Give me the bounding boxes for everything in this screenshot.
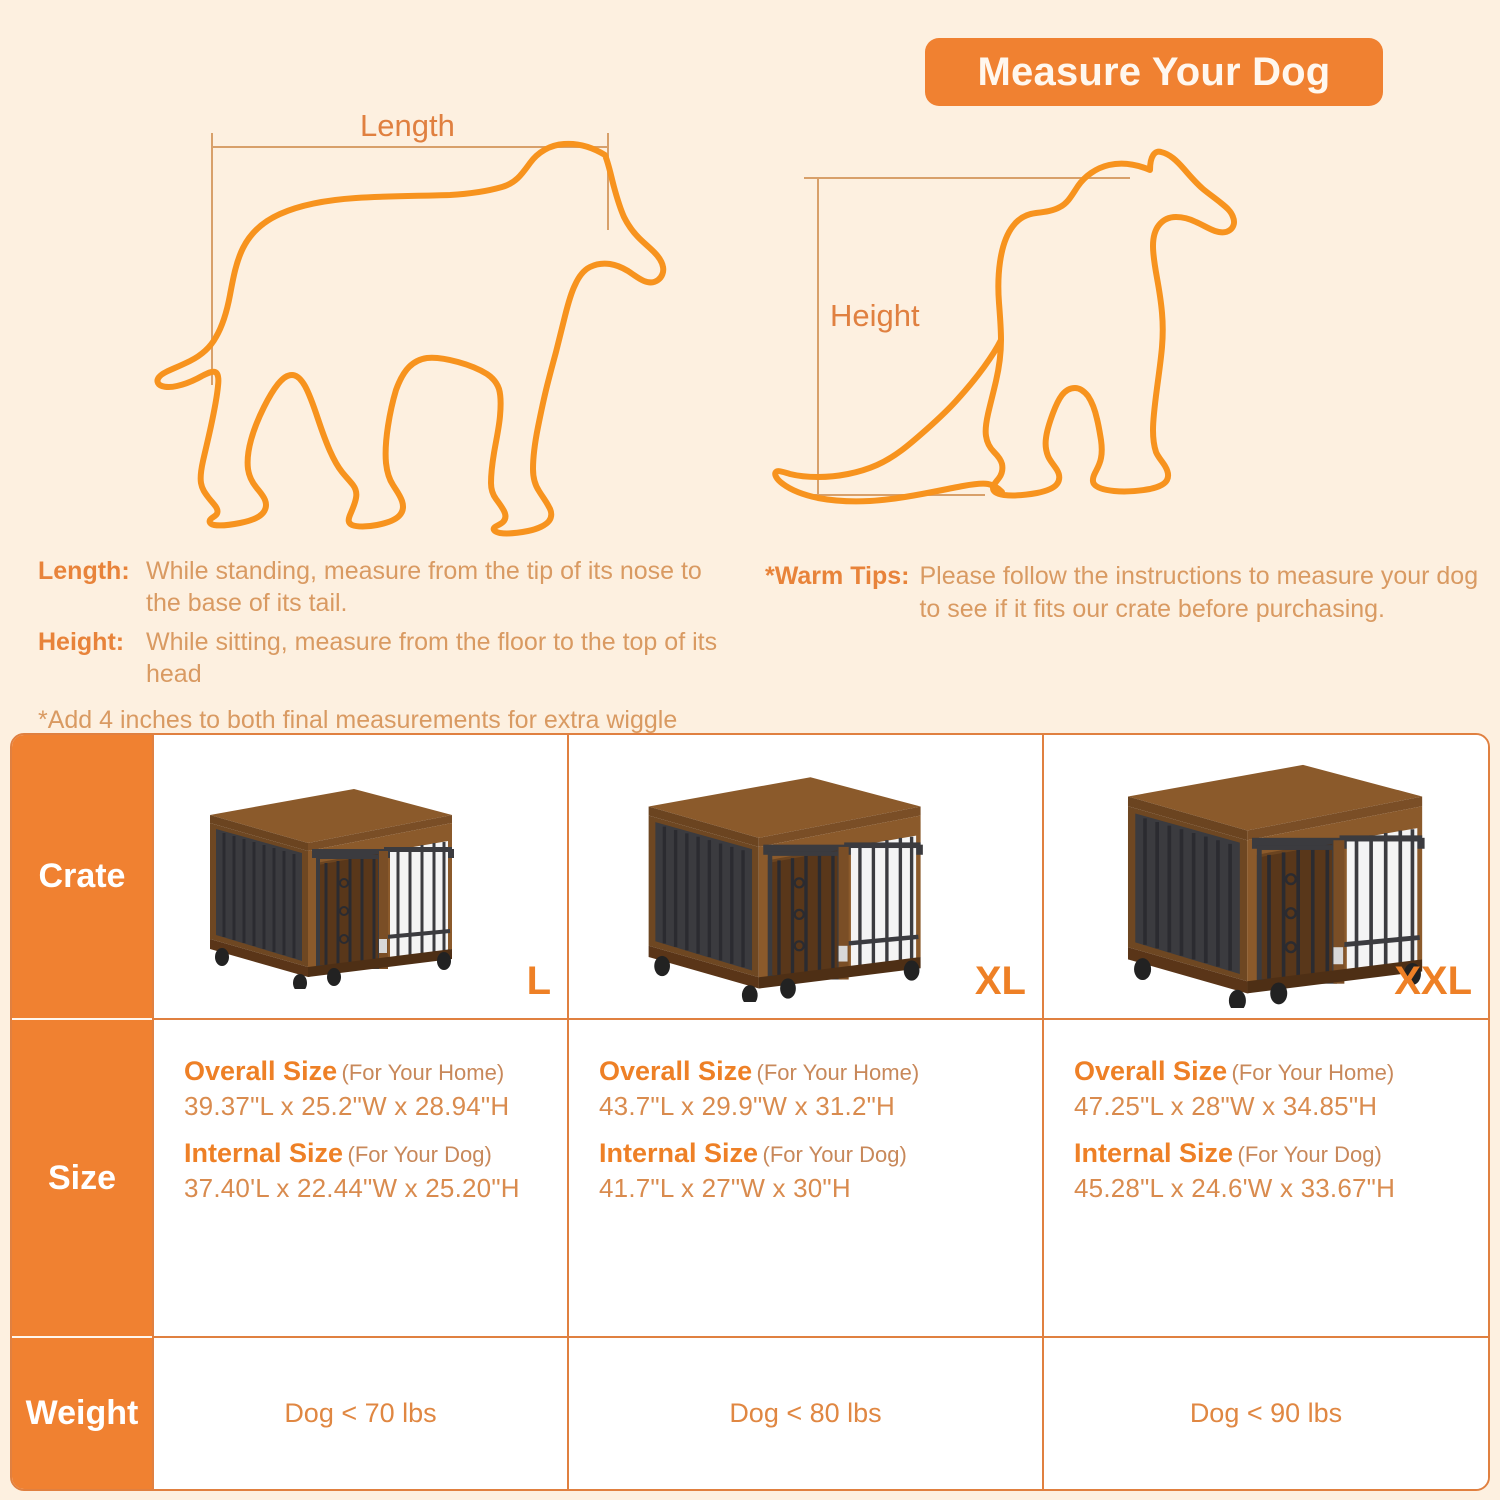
overall-size-value-xxl: 47.25"L x 28"W x 34.85"H bbox=[1074, 1091, 1488, 1122]
dog-crate-image-l bbox=[176, 771, 476, 989]
size-cell-l: Overall Size (For Your Home) 39.37"L x 2… bbox=[152, 1020, 567, 1338]
crate-cell-l: L bbox=[152, 735, 567, 1020]
standing-dog-icon bbox=[157, 144, 663, 534]
overall-size-sub-xl: (For Your Home) bbox=[757, 1060, 920, 1085]
internal-size-label-xl: Internal Size bbox=[599, 1138, 758, 1168]
instruction-row-length: Length: While standing, measure from the… bbox=[38, 555, 738, 619]
internal-size-value-xl: 41.7"L x 27"W x 30"H bbox=[599, 1173, 1042, 1204]
crate-size-badge-xxl: XXL bbox=[1394, 959, 1472, 1004]
overall-size-label-xxl: Overall Size bbox=[1074, 1056, 1227, 1086]
instruction-row-height: Height: While sitting, measure from the … bbox=[38, 626, 738, 690]
internal-size-label-xxl: Internal Size bbox=[1074, 1138, 1233, 1168]
instruction-length-text: While standing, measure from the tip of … bbox=[146, 555, 738, 619]
weight-cell-xxl: Dog < 90 lbs bbox=[1042, 1338, 1488, 1489]
dog-crate-image-xl bbox=[609, 757, 949, 1002]
overall-size-value-l: 39.37"L x 25.2"W x 28.94"H bbox=[184, 1091, 567, 1122]
row-header-weight: Weight bbox=[12, 1338, 152, 1489]
instruction-height-text: While sitting, measure from the floor to… bbox=[146, 626, 738, 690]
instruction-height-key: Height: bbox=[38, 626, 146, 658]
size-cell-xxl: Overall Size (For Your Home) 47.25"L x 2… bbox=[1042, 1020, 1488, 1338]
internal-size-value-l: 37.40'L x 22.44"W x 25.20"H bbox=[184, 1173, 567, 1204]
warm-tips-key: *Warm Tips: bbox=[765, 560, 909, 625]
overall-size-sub-l: (For Your Home) bbox=[342, 1060, 505, 1085]
crate-size-badge-xl: XL bbox=[975, 959, 1026, 1004]
height-illustration bbox=[770, 150, 1300, 540]
length-dimension-line bbox=[212, 133, 608, 385]
weight-value-xxl: Dog < 90 lbs bbox=[1190, 1398, 1342, 1429]
overall-size-sub-xxl: (For Your Home) bbox=[1232, 1060, 1395, 1085]
height-label: Height bbox=[830, 298, 920, 334]
internal-size-value-xxl: 45.28"L x 24.6'W x 33.67"H bbox=[1074, 1173, 1488, 1204]
internal-size-sub-xl: (For Your Dog) bbox=[763, 1142, 907, 1167]
warm-tips: *Warm Tips: Please follow the instructio… bbox=[765, 560, 1485, 625]
overall-size-label-l: Overall Size bbox=[184, 1056, 337, 1086]
weight-value-xl: Dog < 80 lbs bbox=[729, 1398, 881, 1429]
size-cell-xl: Overall Size (For Your Home) 43.7"L x 29… bbox=[567, 1020, 1042, 1338]
row-header-crate: Crate bbox=[12, 735, 152, 1020]
overall-size-value-xl: 43.7"L x 29.9"W x 31.2"H bbox=[599, 1091, 1042, 1122]
warm-tips-text: Please follow the instructions to measur… bbox=[919, 560, 1485, 625]
weight-cell-l: Dog < 70 lbs bbox=[152, 1338, 567, 1489]
crate-size-badge-l: L bbox=[527, 959, 551, 1004]
overall-size-label-xl: Overall Size bbox=[599, 1056, 752, 1086]
internal-size-sub-xxl: (For Your Dog) bbox=[1238, 1142, 1382, 1167]
size-comparison-table: Crate bbox=[10, 733, 1490, 1491]
weight-value-l: Dog < 70 lbs bbox=[284, 1398, 436, 1429]
row-header-size: Size bbox=[12, 1020, 152, 1338]
internal-size-sub-l: (For Your Dog) bbox=[348, 1142, 492, 1167]
weight-cell-xl: Dog < 80 lbs bbox=[567, 1338, 1042, 1489]
crate-cell-xl: XL bbox=[567, 735, 1042, 1020]
internal-size-label-l: Internal Size bbox=[184, 1138, 343, 1168]
page-title: Measure Your Dog bbox=[978, 50, 1331, 95]
crate-cell-xxl: XXL bbox=[1042, 735, 1488, 1020]
length-label: Length bbox=[360, 108, 455, 144]
height-dimension-line bbox=[804, 178, 1130, 495]
length-illustration bbox=[150, 95, 670, 525]
instruction-length-key: Length: bbox=[38, 555, 146, 587]
title-banner: Measure Your Dog bbox=[925, 38, 1383, 106]
